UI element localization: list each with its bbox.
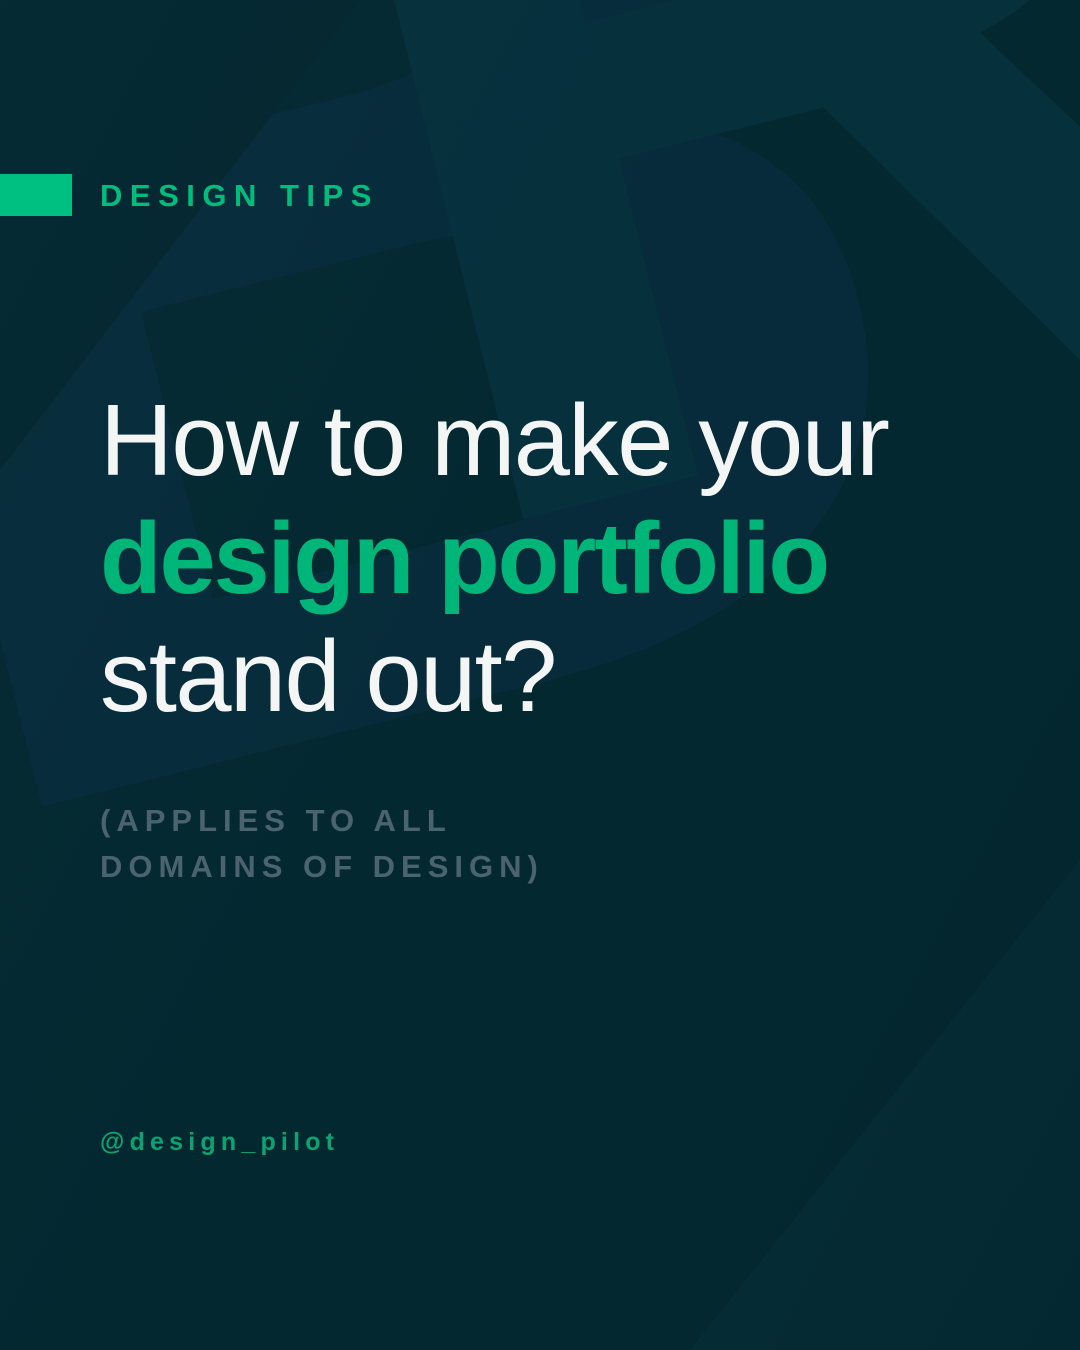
eyebrow: DESIGN TIPS (0, 174, 379, 216)
subtitle-line-1: (APPLIES TO ALL (100, 798, 880, 844)
social-handle: @design_pilot (100, 1130, 339, 1155)
social-post-canvas: B R DESIGN TIPS How to make your design … (0, 0, 1080, 1350)
accent-bar (0, 174, 72, 216)
headline-line-2-highlight: design portfolio (100, 500, 1020, 618)
headline-line-3: stand out? (100, 618, 1020, 736)
post-content: DESIGN TIPS How to make your design port… (0, 0, 1080, 1350)
eyebrow-label: DESIGN TIPS (100, 180, 379, 211)
headline-line-1: How to make your (100, 382, 1020, 500)
subtitle: (APPLIES TO ALL DOMAINS OF DESIGN) (100, 798, 880, 890)
subtitle-line-2: DOMAINS OF DESIGN) (100, 844, 880, 890)
page-title: How to make your design portfolio stand … (100, 382, 1020, 736)
